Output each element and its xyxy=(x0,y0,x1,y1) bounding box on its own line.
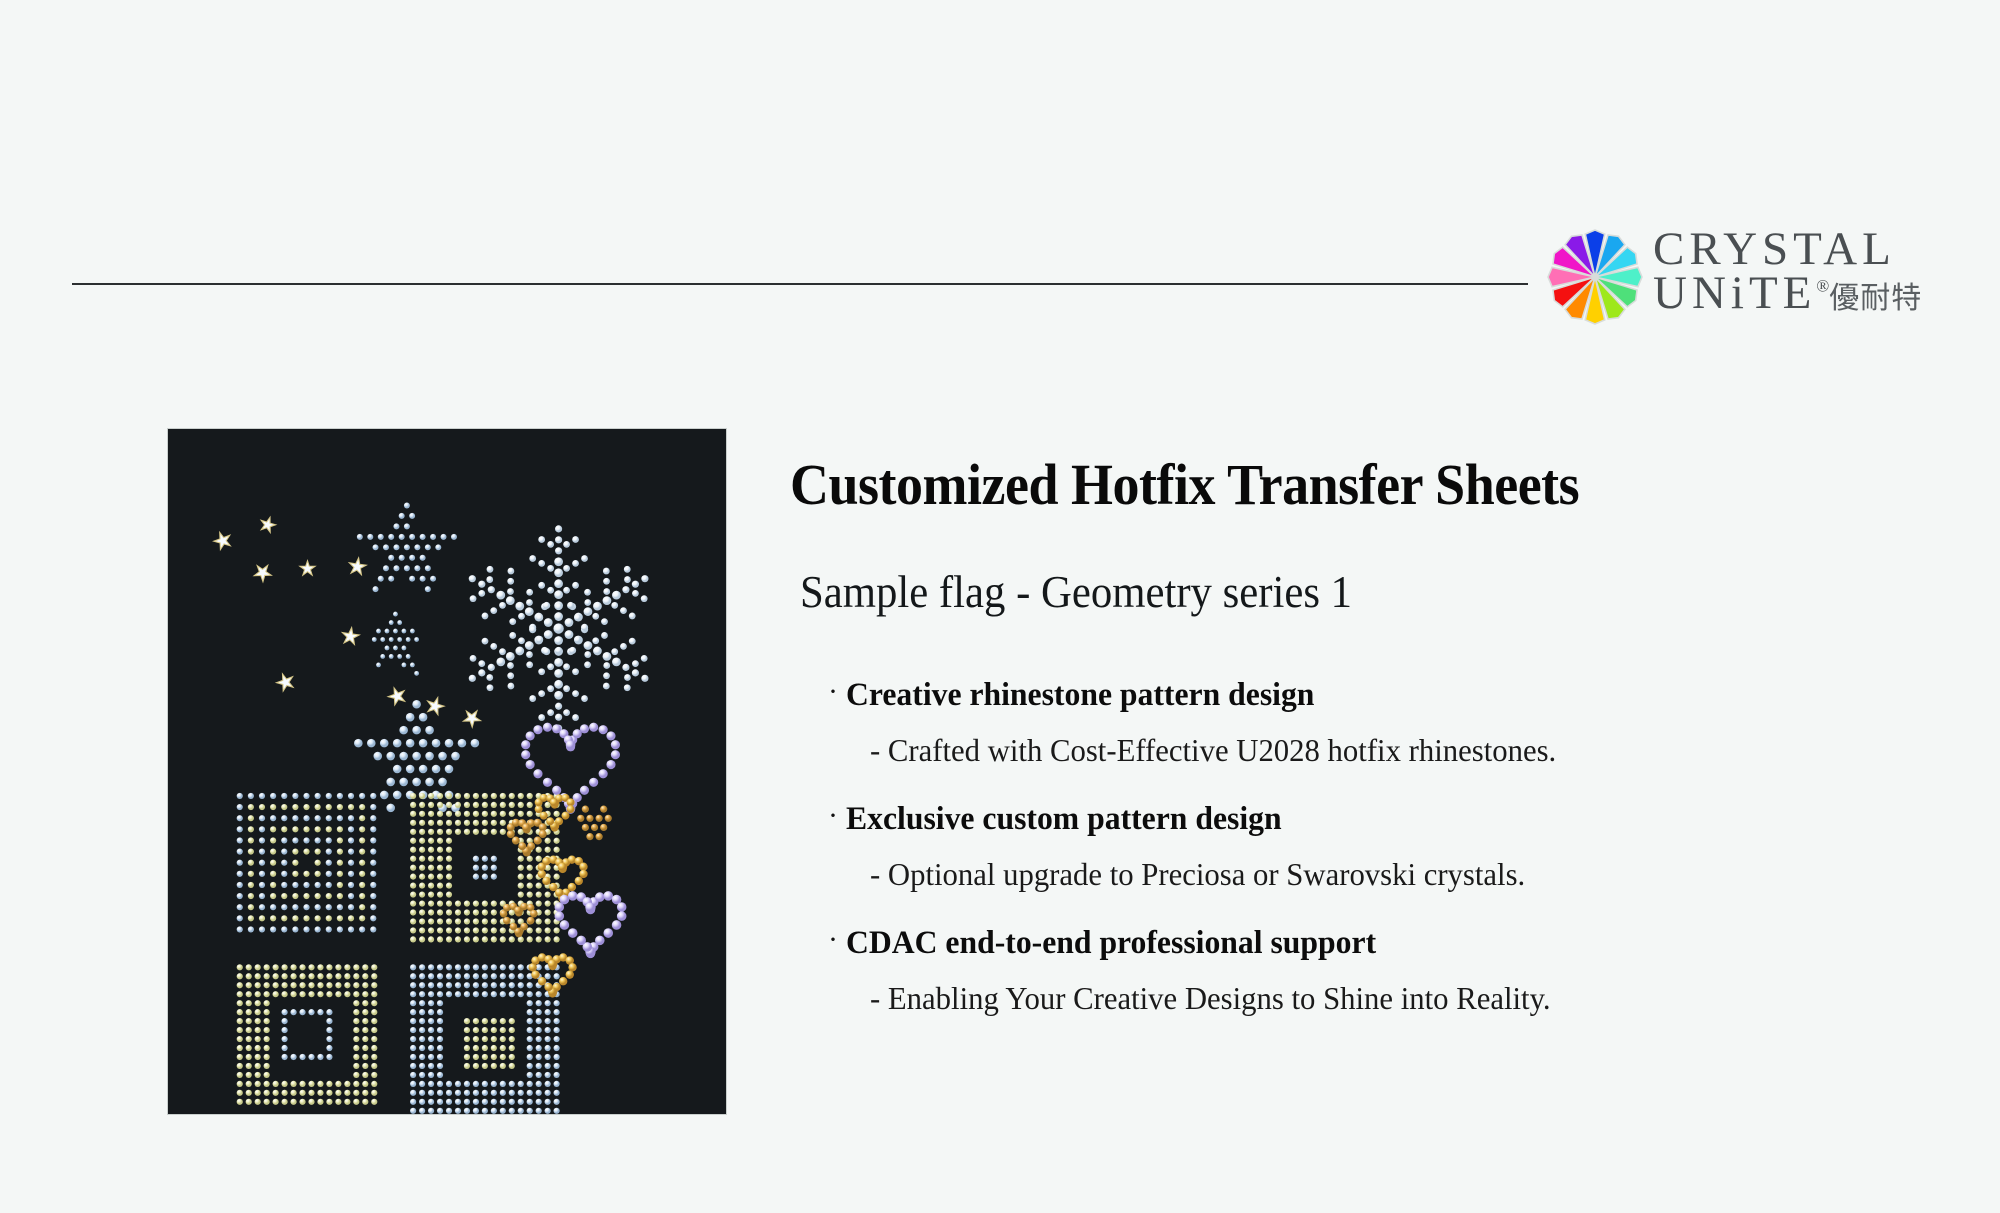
page-subtitle: Sample flag - Geometry series 1 xyxy=(800,568,1912,618)
motif-snowflake xyxy=(469,525,649,731)
logo-wordmark: CRYSTAL UNiTE®優耐特 xyxy=(1653,222,1985,332)
bullet-dot-icon: · xyxy=(828,677,846,707)
feature-subtext: - Crafted with Cost-Effective U2028 hotf… xyxy=(870,732,1926,769)
page-title: Customized Hotfix Transfer Sheets xyxy=(790,455,1887,516)
bullet-dot-icon: · xyxy=(828,801,846,831)
feature-heading: Creative rhinestone pattern design xyxy=(846,677,1314,714)
rhinestone-sample-image xyxy=(167,428,727,1115)
registered-trademark-icon: ® xyxy=(1816,276,1829,295)
feature-item: · Exclusive custom pattern design - Opti… xyxy=(790,801,1970,893)
motif-concentric-squares xyxy=(237,793,560,1114)
feature-heading-row: · Exclusive custom pattern design xyxy=(828,801,1970,838)
feature-heading: CDAC end-to-end professional support xyxy=(846,925,1376,962)
feature-heading: Exclusive custom pattern design xyxy=(846,801,1282,838)
logo-text-unite: UNiTE xyxy=(1653,267,1816,319)
feature-heading-row: · Creative rhinestone pattern design xyxy=(828,677,1970,714)
feature-list: · Creative rhinestone pattern design - C… xyxy=(790,677,1970,1017)
color-petal-rosette-icon xyxy=(1545,227,1645,327)
feature-subtext: - Optional upgrade to Preciosa or Swarov… xyxy=(870,856,1926,893)
motif-stars-cluster xyxy=(214,502,481,812)
feature-item: · CDAC end-to-end professional support -… xyxy=(790,925,1970,1017)
feature-heading-row: · CDAC end-to-end professional support xyxy=(828,925,1970,962)
brand-logo: CRYSTAL UNiTE®優耐特 xyxy=(1545,222,1985,332)
logo-line-crystal: CRYSTAL xyxy=(1653,226,1896,273)
feature-subtext: - Enabling Your Creative Designs to Shin… xyxy=(870,980,1926,1017)
header-divider xyxy=(72,283,1528,285)
bullet-dot-icon: · xyxy=(828,925,846,955)
logo-text-chinese: 優耐特 xyxy=(1829,281,1922,316)
content-column: Customized Hotfix Transfer Sheets Sample… xyxy=(790,455,1970,1049)
logo-line-unite: UNiTE®優耐特 xyxy=(1653,270,1922,317)
feature-item: · Creative rhinestone pattern design - C… xyxy=(790,677,1970,769)
